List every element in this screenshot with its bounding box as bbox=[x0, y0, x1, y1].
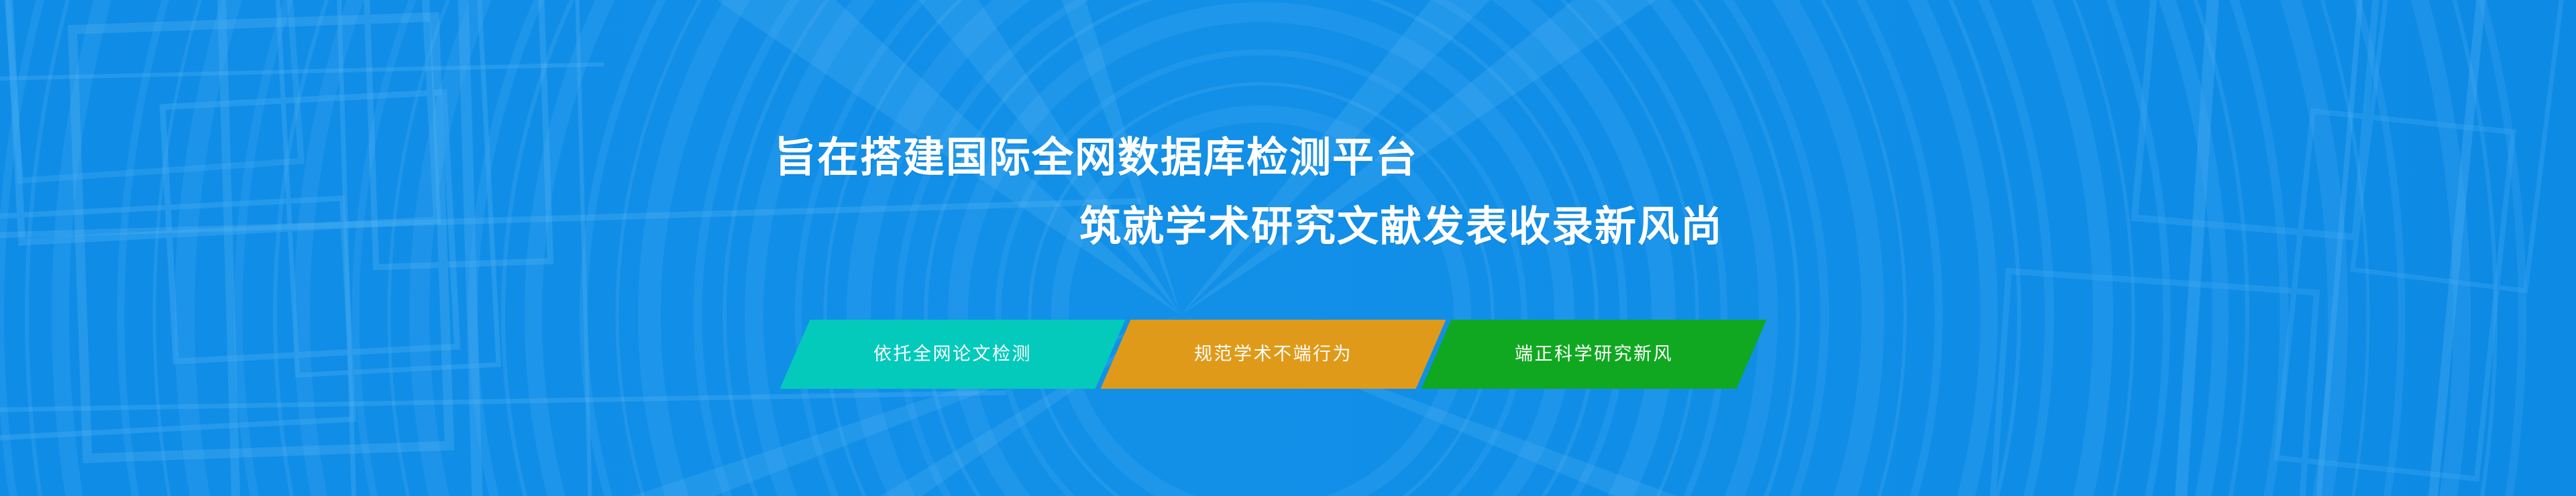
feature-tag-0[interactable]: 依托全网论文检测 bbox=[780, 320, 1126, 389]
feature-tag-2-label: 端正科学研究新风 bbox=[1515, 345, 1673, 363]
feature-tag-0-label: 依托全网论文检测 bbox=[873, 345, 1032, 363]
feature-tag-band: 依托全网论文检测 规范学术不端行为 端正科学研究新风 bbox=[775, 320, 1808, 389]
feature-tag-1[interactable]: 规范学术不端行为 bbox=[1101, 320, 1446, 389]
promo-banner: 旨在搭建国际全网数据库检测平台 筑就学术研究文献发表收录新风尚 依托全网论文检测… bbox=[0, 0, 2576, 496]
background-decoration bbox=[0, 0, 2576, 496]
feature-tag-1-label: 规范学术不端行为 bbox=[1194, 345, 1352, 363]
feature-tag-2[interactable]: 端正科学研究新风 bbox=[1421, 320, 1767, 389]
